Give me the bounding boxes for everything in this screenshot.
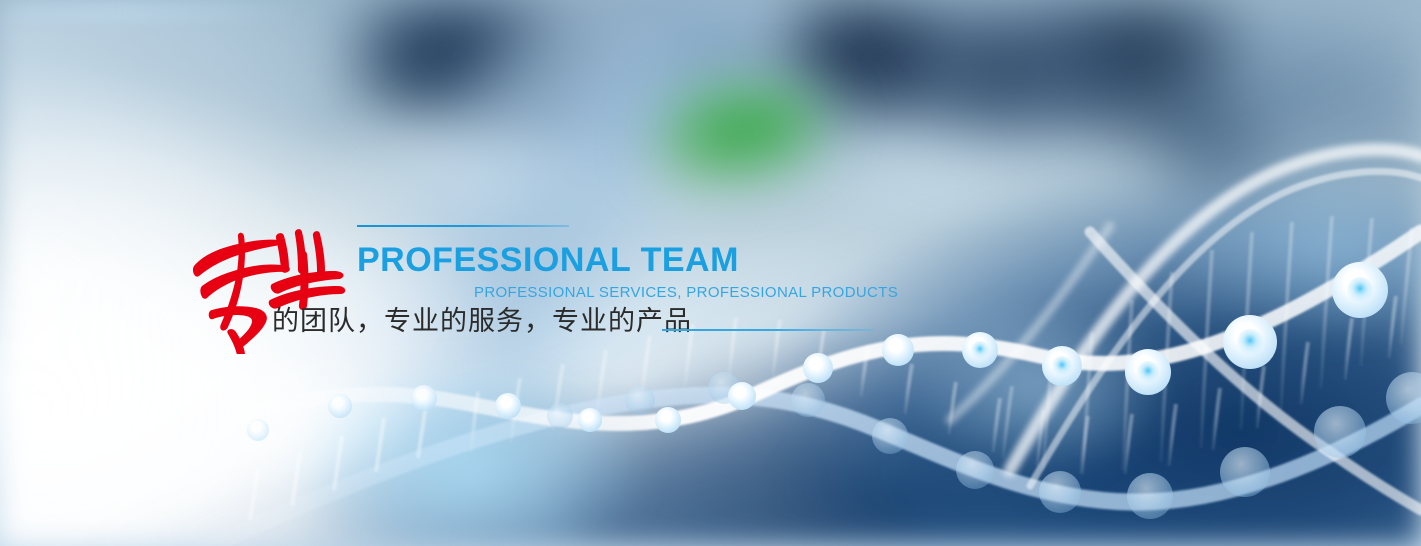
bottom-accent-rule <box>662 329 873 331</box>
promotional-banner: PROFESSIONAL TEAM PROFESSIONAL SERVICES,… <box>0 0 1421 546</box>
headline-professional-team: PROFESSIONAL TEAM <box>357 243 739 277</box>
tagline-chinese: 的团队，专业的服务，专业的产品 <box>272 306 692 337</box>
banner-text-block: PROFESSIONAL TEAM PROFESSIONAL SERVICES,… <box>0 0 1421 546</box>
subheadline-services-products: PROFESSIONAL SERVICES, PROFESSIONAL PROD… <box>474 285 898 300</box>
top-accent-rule <box>357 225 569 227</box>
